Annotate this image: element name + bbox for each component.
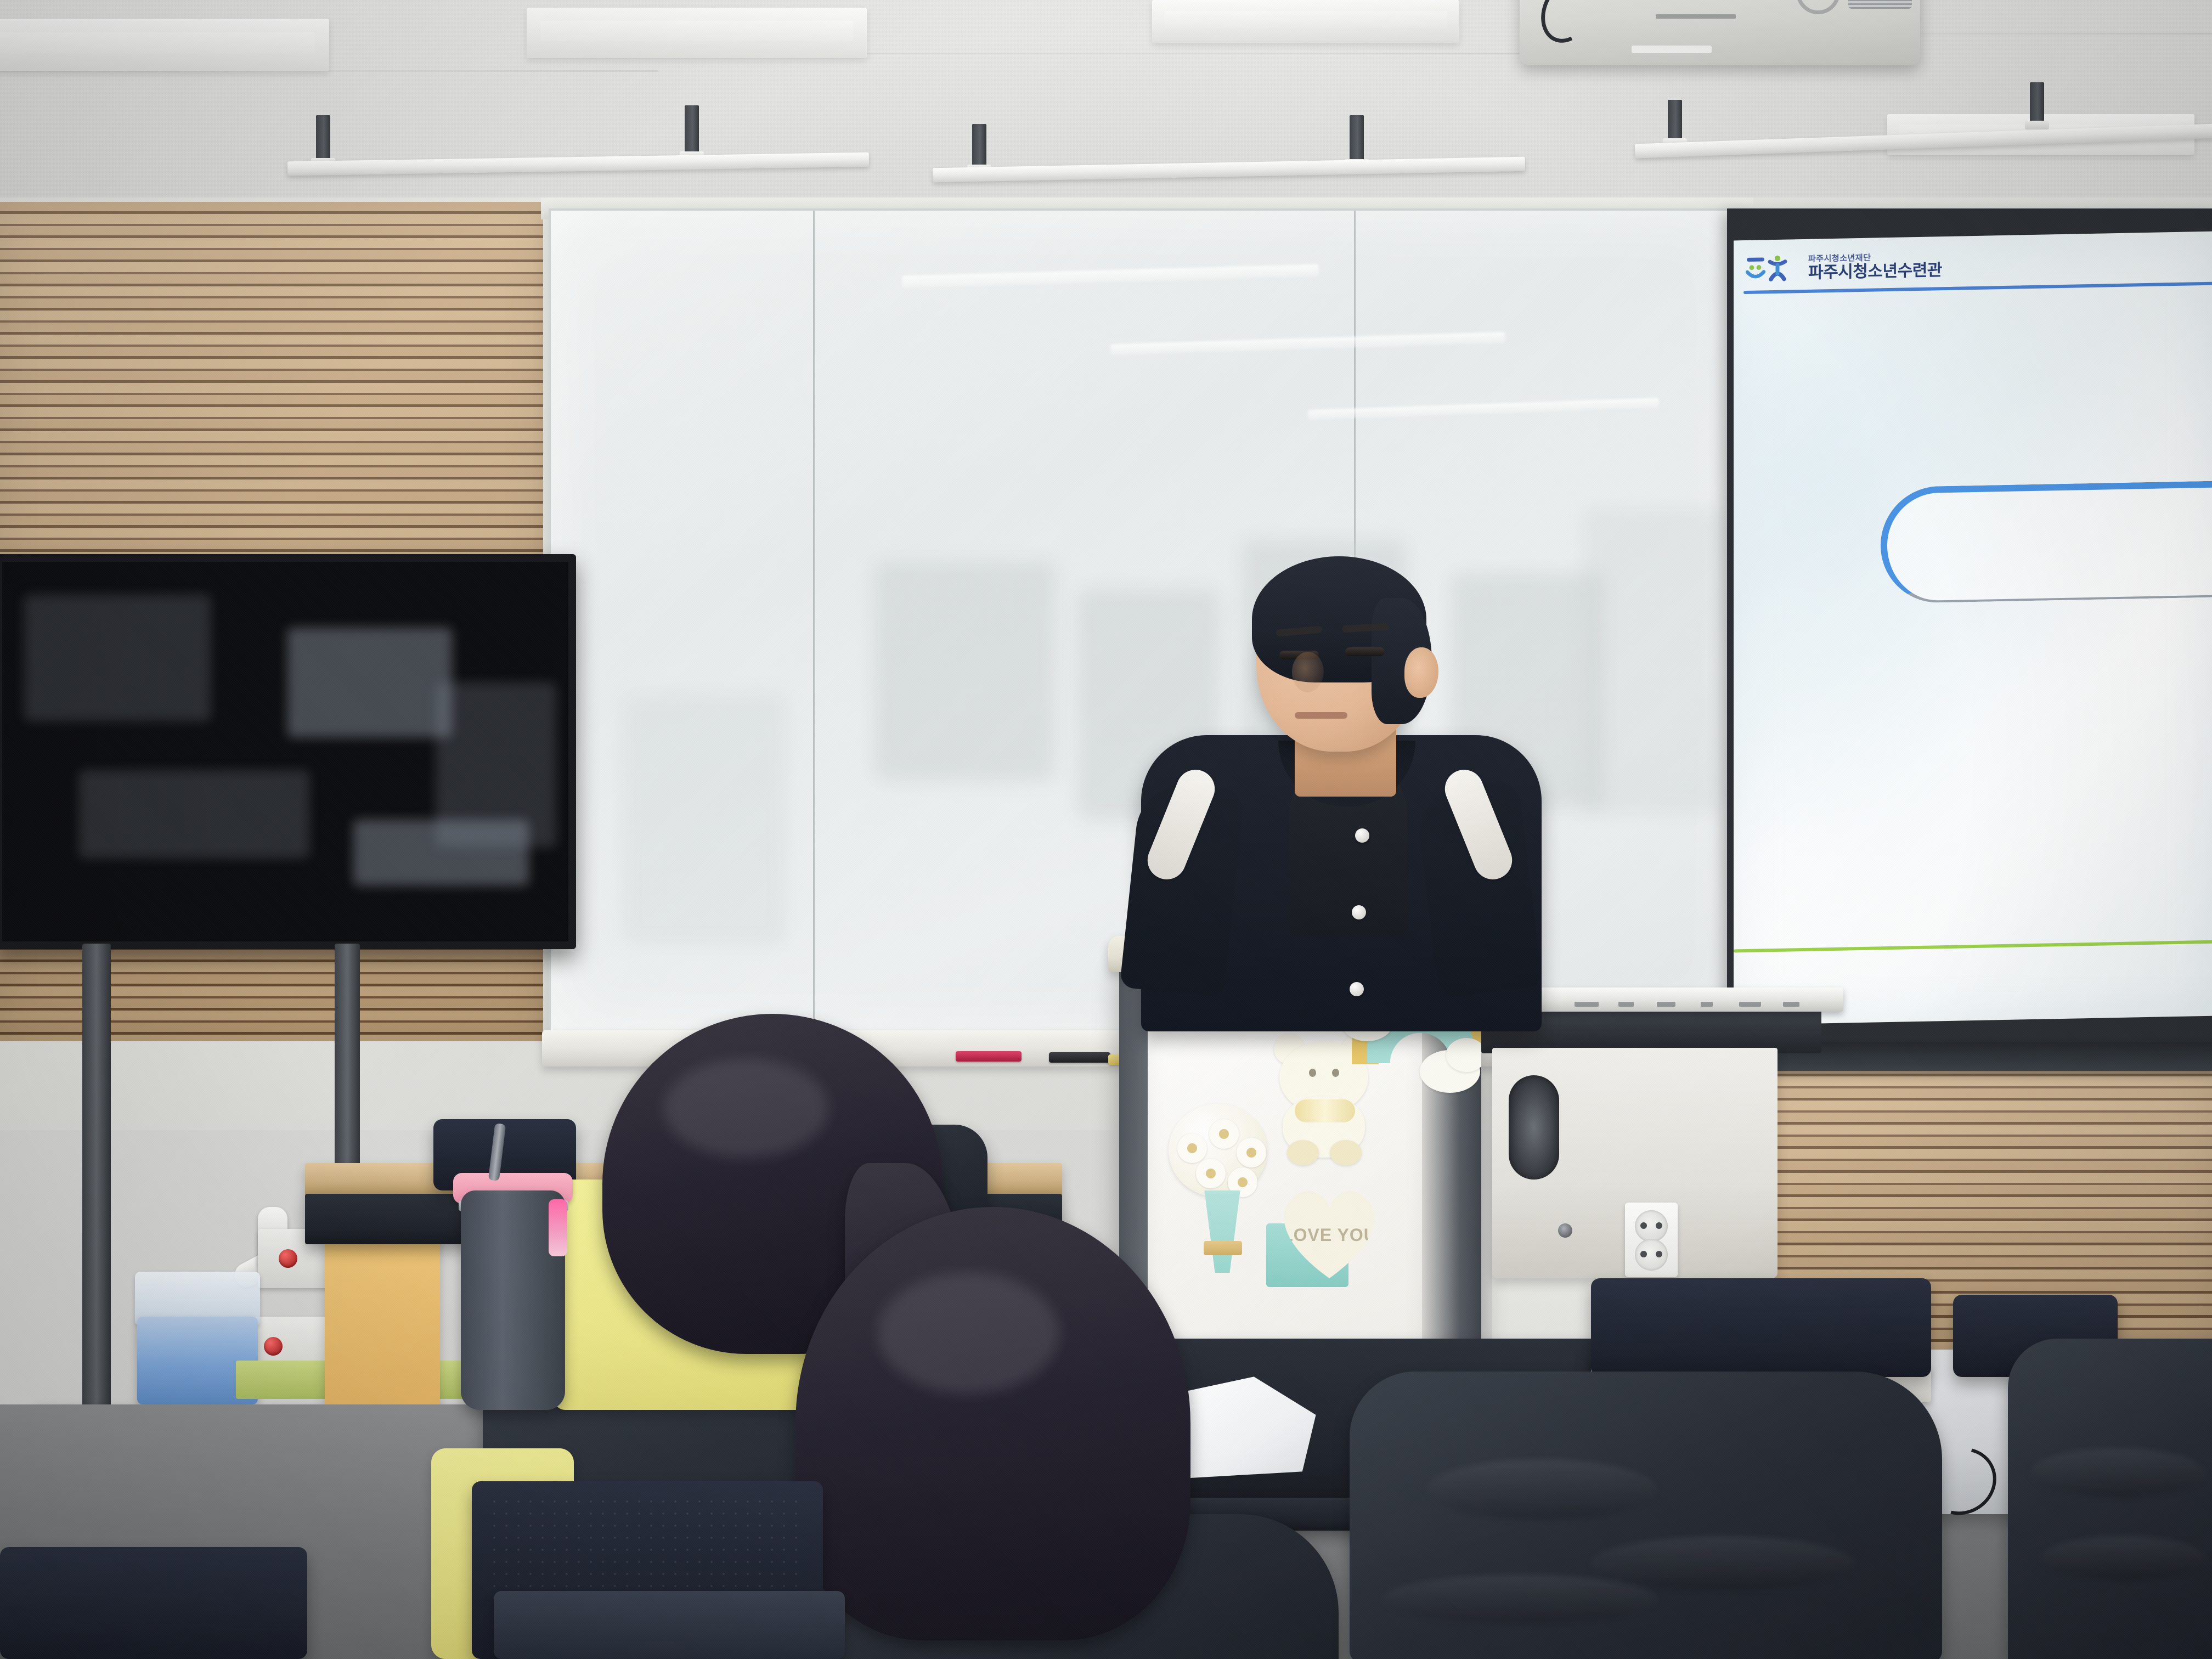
jacket-fold [1383,1575,1657,1624]
screen-reflection [436,682,556,847]
ceiling-light-fixture [527,8,867,58]
presenter-nose [1292,652,1324,692]
wall-display-tv[interactable] [0,554,576,949]
podium-speaker-grill [1509,1075,1559,1180]
flower-bouquet-sticker [1162,1104,1283,1301]
tray-detail [1657,1002,1675,1007]
bear-foot [1287,1140,1319,1165]
bouquet-band [1204,1241,1242,1255]
classroom-photo-scene: 파주시청소년재단 파주시청소년수련관 김 [0,0,2212,1659]
slide-light-glow [1734,232,2212,1025]
flower-petal [1177,1133,1207,1163]
rail-bracket [2030,82,2044,123]
rail-bracket [1350,115,1364,161]
screen-reflection [287,628,452,737]
outlet-socket-lower[interactable] [1635,1239,1668,1271]
flower-petal [1237,1138,1266,1167]
jacket-button [1355,828,1369,843]
tv-cart-post [82,944,111,1415]
whiteboard-seam [813,211,815,1035]
wall-outlet[interactable] [1625,1203,1678,1277]
keyboard-tray[interactable] [1492,988,1843,1012]
ceiling-light-fixture [1152,0,1459,43]
bear-eye [1309,1069,1316,1077]
tray-detail [1575,1002,1599,1007]
whiteboard-reflection-blur [874,562,1056,781]
podium-lock-icon [1558,1223,1572,1238]
slide-pill-shape: 김 [1881,479,2212,604]
student-3-jacket [2008,1339,2212,1659]
foreground-chair-seat[interactable] [494,1591,845,1659]
hair-highlight [664,1059,828,1158]
chair-mesh-back [488,1496,806,1606]
rail-bracket [972,124,986,167]
tray-detail [1783,1002,1799,1007]
rail-bracket [685,105,699,154]
hair-highlight [878,1273,1059,1393]
youth-center-logo-icon [1746,251,1801,284]
jacket-button [1352,905,1366,919]
light-reflection [902,264,1319,287]
red-marker[interactable] [956,1051,1022,1062]
outlet-hole [1640,1251,1647,1257]
bear-eye [1332,1069,1339,1077]
outlet-hole [1656,1222,1662,1229]
projector-lens-icon [1796,0,1840,14]
jacket-fold [1426,1459,1657,1520]
projector-foot [1632,46,1712,53]
light-reflection [1308,398,1659,420]
jacket-fold [2030,1448,2205,1498]
projector-vent [1848,0,1912,9]
foreground-chair-far-left[interactable] [0,1547,307,1659]
org-name-large: 파주시청소년수련관 [1808,262,1942,281]
flower-petal [1196,1159,1226,1188]
presentation-slide: 파주시청소년재단 파주시청소년수련관 김 [1734,232,2212,1025]
jacket-button [1350,982,1364,996]
emergency-button-red[interactable] [264,1337,283,1356]
whiteboard-reflection-blur [1582,507,1725,814]
jacket-fold [2041,1536,2205,1580]
rail-bracket [1668,100,1682,140]
screen-reflection [24,595,211,721]
tray-detail [1701,1002,1713,1007]
light-reflection [1110,332,1505,356]
tumbler-charm [549,1199,567,1256]
ceiling-light-fixture [0,19,329,71]
presenter-mouth [1295,712,1347,719]
bouquet-stem [1196,1190,1249,1273]
black-marker[interactable] [1049,1052,1110,1063]
classroom-chair-right[interactable] [1591,1278,1931,1377]
flower-petal [1209,1119,1239,1149]
slide-header: 파주시청소년재단 파주시청소년수련관 [1746,249,1942,284]
cloud-right [1446,1038,1481,1072]
whiteboard-reflection-blur [622,693,787,946]
slide-org-titles: 파주시청소년재단 파주시청소년수련관 [1808,250,1942,281]
rail-bracket [316,115,330,160]
outlet-socket-upper[interactable] [1635,1210,1668,1242]
outlet-hole [1640,1222,1647,1229]
jacket-fold [1591,1536,1854,1591]
bear-foot [1330,1140,1362,1165]
presenter-eye [1345,647,1385,656]
student-2-hair [795,1207,1190,1640]
tray-detail [1618,1002,1634,1007]
outlet-hole [1656,1251,1662,1257]
projector-label [1656,14,1736,19]
tray-detail [1739,1002,1761,1007]
emergency-button-red[interactable] [279,1249,297,1268]
screen-reflection [79,770,309,858]
